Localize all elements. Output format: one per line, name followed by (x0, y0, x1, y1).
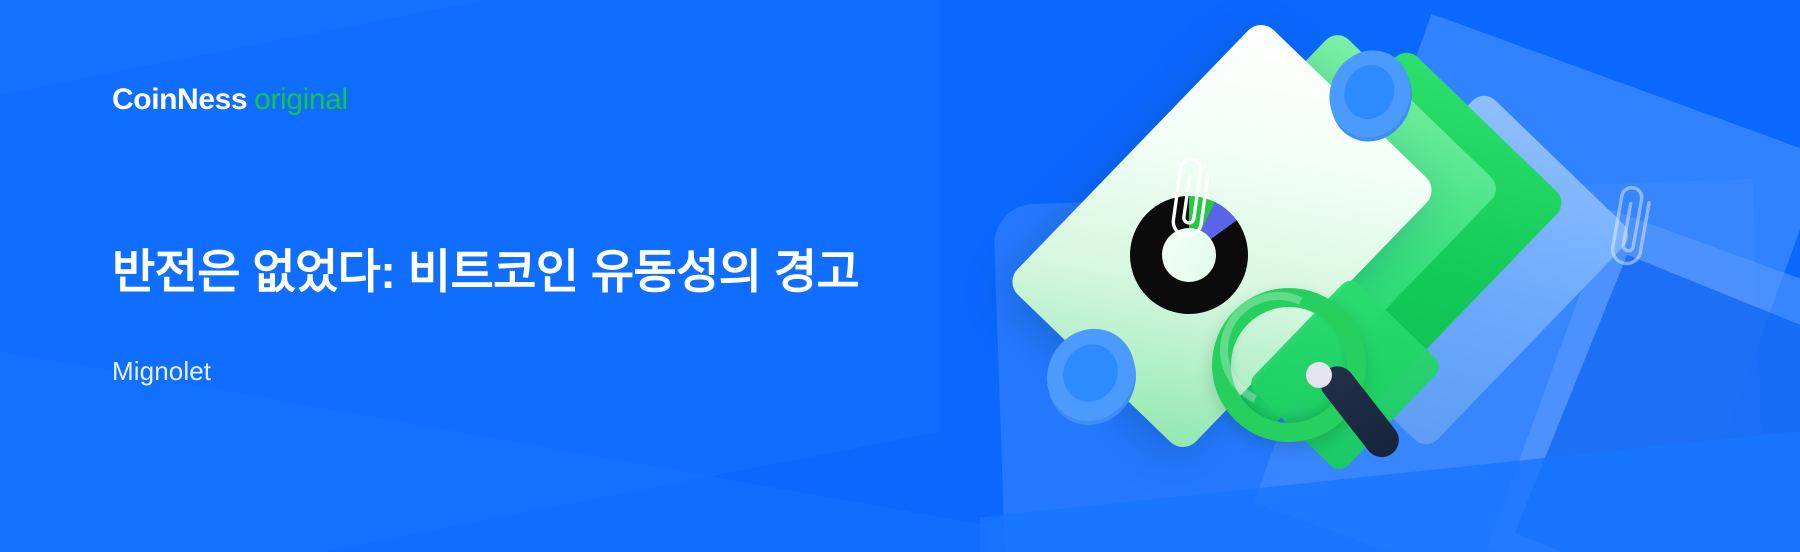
hero-illustration (980, 0, 1800, 552)
page-title: 반전은 없었다: 비트코인 유동성의 경고 (112, 243, 859, 302)
article-author: Mignolet (112, 356, 211, 387)
brand-logo[interactable]: CoinNessoriginal (112, 83, 348, 117)
brand-name: CoinNess (112, 83, 247, 116)
paperclip-icon (1592, 175, 1671, 285)
brand-suffix: original (254, 83, 348, 116)
magnifier-joint (1306, 362, 1332, 388)
hero-text-column: CoinNessoriginal 반전은 없었다: 비트코인 유동성의 경고 M… (0, 0, 1000, 552)
article-hero-banner: CoinNessoriginal 반전은 없었다: 비트코인 유동성의 경고 M… (0, 0, 1800, 552)
